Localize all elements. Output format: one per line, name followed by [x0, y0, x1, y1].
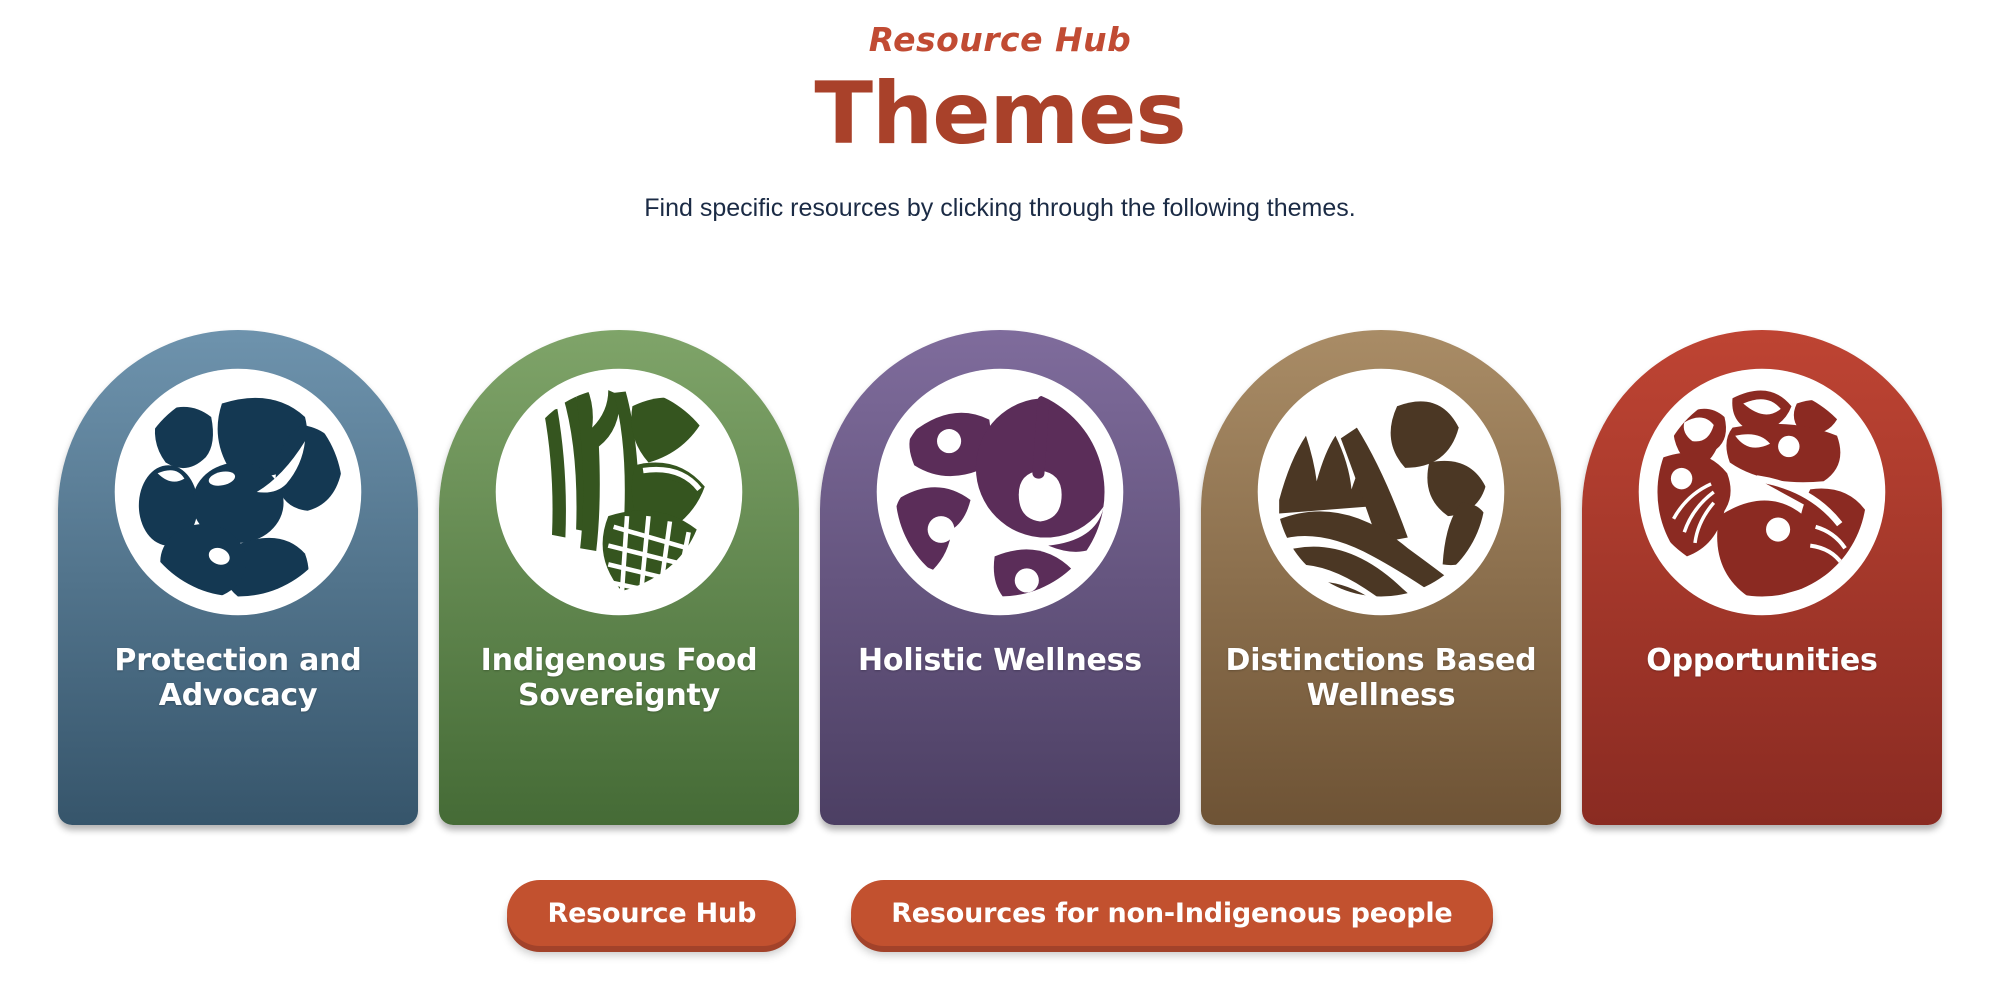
resources-non-indigenous-button[interactable]: Resources for non-Indigenous people — [851, 880, 1492, 946]
page-header: Resource Hub Themes Find specific resour… — [0, 0, 2000, 224]
eyebrow-label: Resource Hub — [0, 22, 2000, 58]
theme-card-distinctions-based-wellness[interactable]: Distinctions Based Wellness — [1201, 330, 1561, 825]
page-title: Themes — [0, 64, 2000, 165]
resource-hub-button[interactable]: Resource Hub — [507, 880, 796, 946]
berries-icon — [104, 358, 372, 626]
theme-card-label: Distinctions Based Wellness — [1201, 626, 1561, 825]
sea-animals-icon — [1628, 358, 1896, 626]
theme-card-holistic-wellness[interactable]: Holistic Wellness — [820, 330, 1180, 825]
theme-card-label: Protection and Advocacy — [58, 626, 418, 825]
plants-and-corn-icon — [485, 358, 753, 626]
theme-card-label: Indigenous Food Sovereignty — [439, 626, 799, 825]
drum-and-faces-icon — [866, 358, 1134, 626]
footer-button-row: Resource Hub Resources for non-Indigenou… — [0, 880, 2000, 946]
theme-card-indigenous-food-sovereignty[interactable]: Indigenous Food Sovereignty — [439, 330, 799, 825]
theme-card-opportunities[interactable]: Opportunities — [1582, 330, 1942, 825]
theme-card-label: Opportunities — [1582, 626, 1942, 825]
page-subtitle: Find specific resources by clicking thro… — [0, 192, 2000, 225]
theme-card-label: Holistic Wellness — [820, 626, 1180, 825]
theme-card-protection-and-advocacy[interactable]: Protection and Advocacy — [58, 330, 418, 825]
themes-card-row: Protection and Advocacy — [0, 330, 2000, 825]
mountains-and-land-icon — [1247, 358, 1515, 626]
themes-page: Resource Hub Themes Find specific resour… — [0, 0, 2000, 986]
